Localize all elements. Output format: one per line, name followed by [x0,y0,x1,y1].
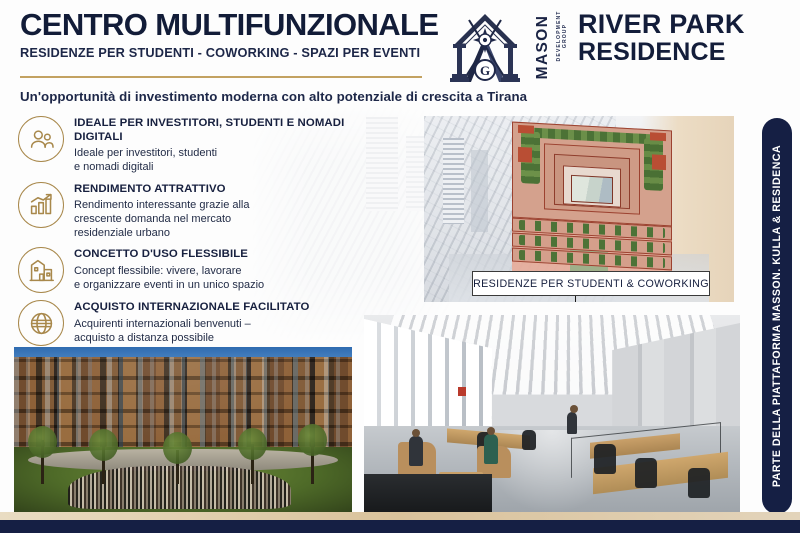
feature-text: CONCETTO D'USO FLESSIBILE Concept flessi… [74,247,264,292]
brochure-page: CENTRO MULTIFUNZIONALE RESIDENZE PER STU… [0,0,800,533]
render-caption-box: RESIDENZE PER STUDENTI & COWORKING [472,271,710,296]
people-icon [18,116,64,162]
page-subtitle: RESIDENZE PER STUDENTI - COWORKING - SPA… [20,45,440,60]
feature-text: RENDIMENTO ATTRATTIVO Rendimento interes… [74,182,250,241]
feature-description: Ideale per investitori, studenti e nomad… [74,146,348,174]
header-right: RIVER PARK RESIDENCE [578,10,745,66]
tagline: Un'opportunità di investimento moderna c… [20,89,527,104]
logo-letter-g: G [480,63,490,78]
logo-brand-tagline: DEVELOPMENT GROUP [556,0,568,74]
feature-title: CONCETTO D'USO FLESSIBILE [74,248,264,262]
exit-sign-icon [458,387,466,396]
feature-description: Acquirenti internazionali benvenuti – ac… [74,317,309,345]
feature-item-flexible-use: CONCETTO D'USO FLESSIBILE Concept flessi… [18,247,348,293]
growth-chart-icon [18,182,64,228]
page-title: CENTRO MULTIFUNZIONALE [20,8,440,41]
header-gold-divider [20,76,422,78]
feature-title: IDEALE PER INVESTITORI, STUDENTI E NOMAD… [74,117,348,144]
student-housing-photo [14,347,352,514]
masonic-square-compass-icon: G [447,6,523,86]
feature-item-investors: IDEALE PER INVESTITORI, STUDENTI E NOMAD… [18,116,348,175]
header-left: CENTRO MULTIFUNZIONALE RESIDENZE PER STU… [20,8,440,60]
feature-title: RENDIMENTO ATTRATTIVO [74,183,250,197]
feature-description: Concept flessibile: vivere, lavorare e o… [74,264,264,292]
logo-brand-name: MASON [534,9,552,85]
platform-banner-text: PARTE DELLA PIATTAFORMA MASSON. KULLA & … [771,145,783,487]
feature-text: IDEALE PER INVESTITORI, STUDENTI E NOMAD… [74,116,348,175]
globe-icon [18,300,64,346]
feature-title: ACQUISTO INTERNAZIONALE FACILITATO [74,301,309,315]
feature-description: Rendimento interessante grazie alla cres… [74,198,250,240]
feature-item-international: ACQUISTO INTERNAZIONALE FACILITATO Acqui… [18,300,348,346]
render-tower [443,138,464,224]
platform-vertical-banner: PARTE DELLA PIATTAFORMA MASSON. KULLA & … [762,118,792,514]
render-caption-text: RESIDENZE PER STUDENTI & COWORKING [473,278,709,290]
project-brand-line2: RESIDENCE [578,39,745,67]
mason-logo-type: MASON DEVELOPMENT GROUP [521,8,563,86]
feature-item-yield: RENDIMENTO ATTRATTIVO Rendimento interes… [18,182,348,241]
building-icon [18,247,64,293]
feature-text: ACQUISTO INTERNAZIONALE FACILITATO Acqui… [74,300,309,345]
coworking-space-photo [364,315,740,514]
footer-navy-bar [0,520,800,533]
feature-list: IDEALE PER INVESTITORI, STUDENTI E NOMAD… [18,116,348,353]
mason-logo: G MASON DEVELOPMENT GROUP [447,6,563,86]
project-brand-line1: RIVER PARK [578,10,745,39]
header: CENTRO MULTIFUNZIONALE RESIDENZE PER STU… [0,0,800,92]
render-courtyard-building [512,122,672,281]
